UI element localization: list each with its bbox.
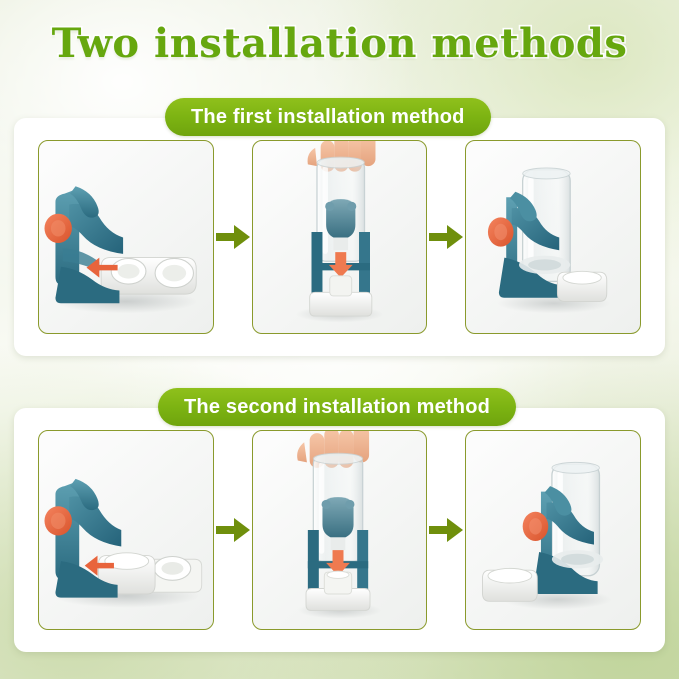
product-illustration-insert-bottle-into-bracket-alt — [253, 431, 427, 629]
arrow-right-icon — [216, 224, 250, 250]
step-arrow-2-1 — [214, 430, 252, 630]
product-illustration-assembled-side-bowl — [466, 431, 640, 629]
step-arrow-1-1 — [214, 140, 252, 334]
step-panel-2-2[interactable] — [252, 430, 428, 630]
step-arrow-1-2 — [427, 140, 465, 334]
method-steps-second — [38, 430, 641, 630]
badge-first-installation-method: The first installation method — [165, 98, 491, 136]
method-card-first — [14, 118, 665, 356]
step-panel-1-1[interactable] — [38, 140, 214, 334]
step-panel-1-2[interactable] — [252, 140, 428, 334]
product-illustration-assembled-front-bowl — [466, 141, 640, 333]
arrow-right-icon — [429, 224, 463, 250]
product-illustration-bracket-and-bowl-alternate — [39, 431, 213, 629]
arrow-right-icon — [216, 517, 250, 543]
arrow-right-icon — [429, 517, 463, 543]
step-panel-1-3[interactable] — [465, 140, 641, 334]
step-panel-2-1[interactable] — [38, 430, 214, 630]
poster-root: Two installation methods — [0, 0, 679, 679]
badge-second-installation-method: The second installation method — [158, 388, 516, 426]
method-card-second — [14, 408, 665, 652]
product-illustration-bracket-and-bowl-separate — [39, 141, 213, 333]
product-illustration-insert-bottle-into-bracket — [253, 141, 427, 333]
page-title: Two installation methods — [0, 20, 679, 67]
method-steps-first — [38, 140, 641, 334]
step-panel-2-3[interactable] — [465, 430, 641, 630]
step-arrow-2-2 — [427, 430, 465, 630]
